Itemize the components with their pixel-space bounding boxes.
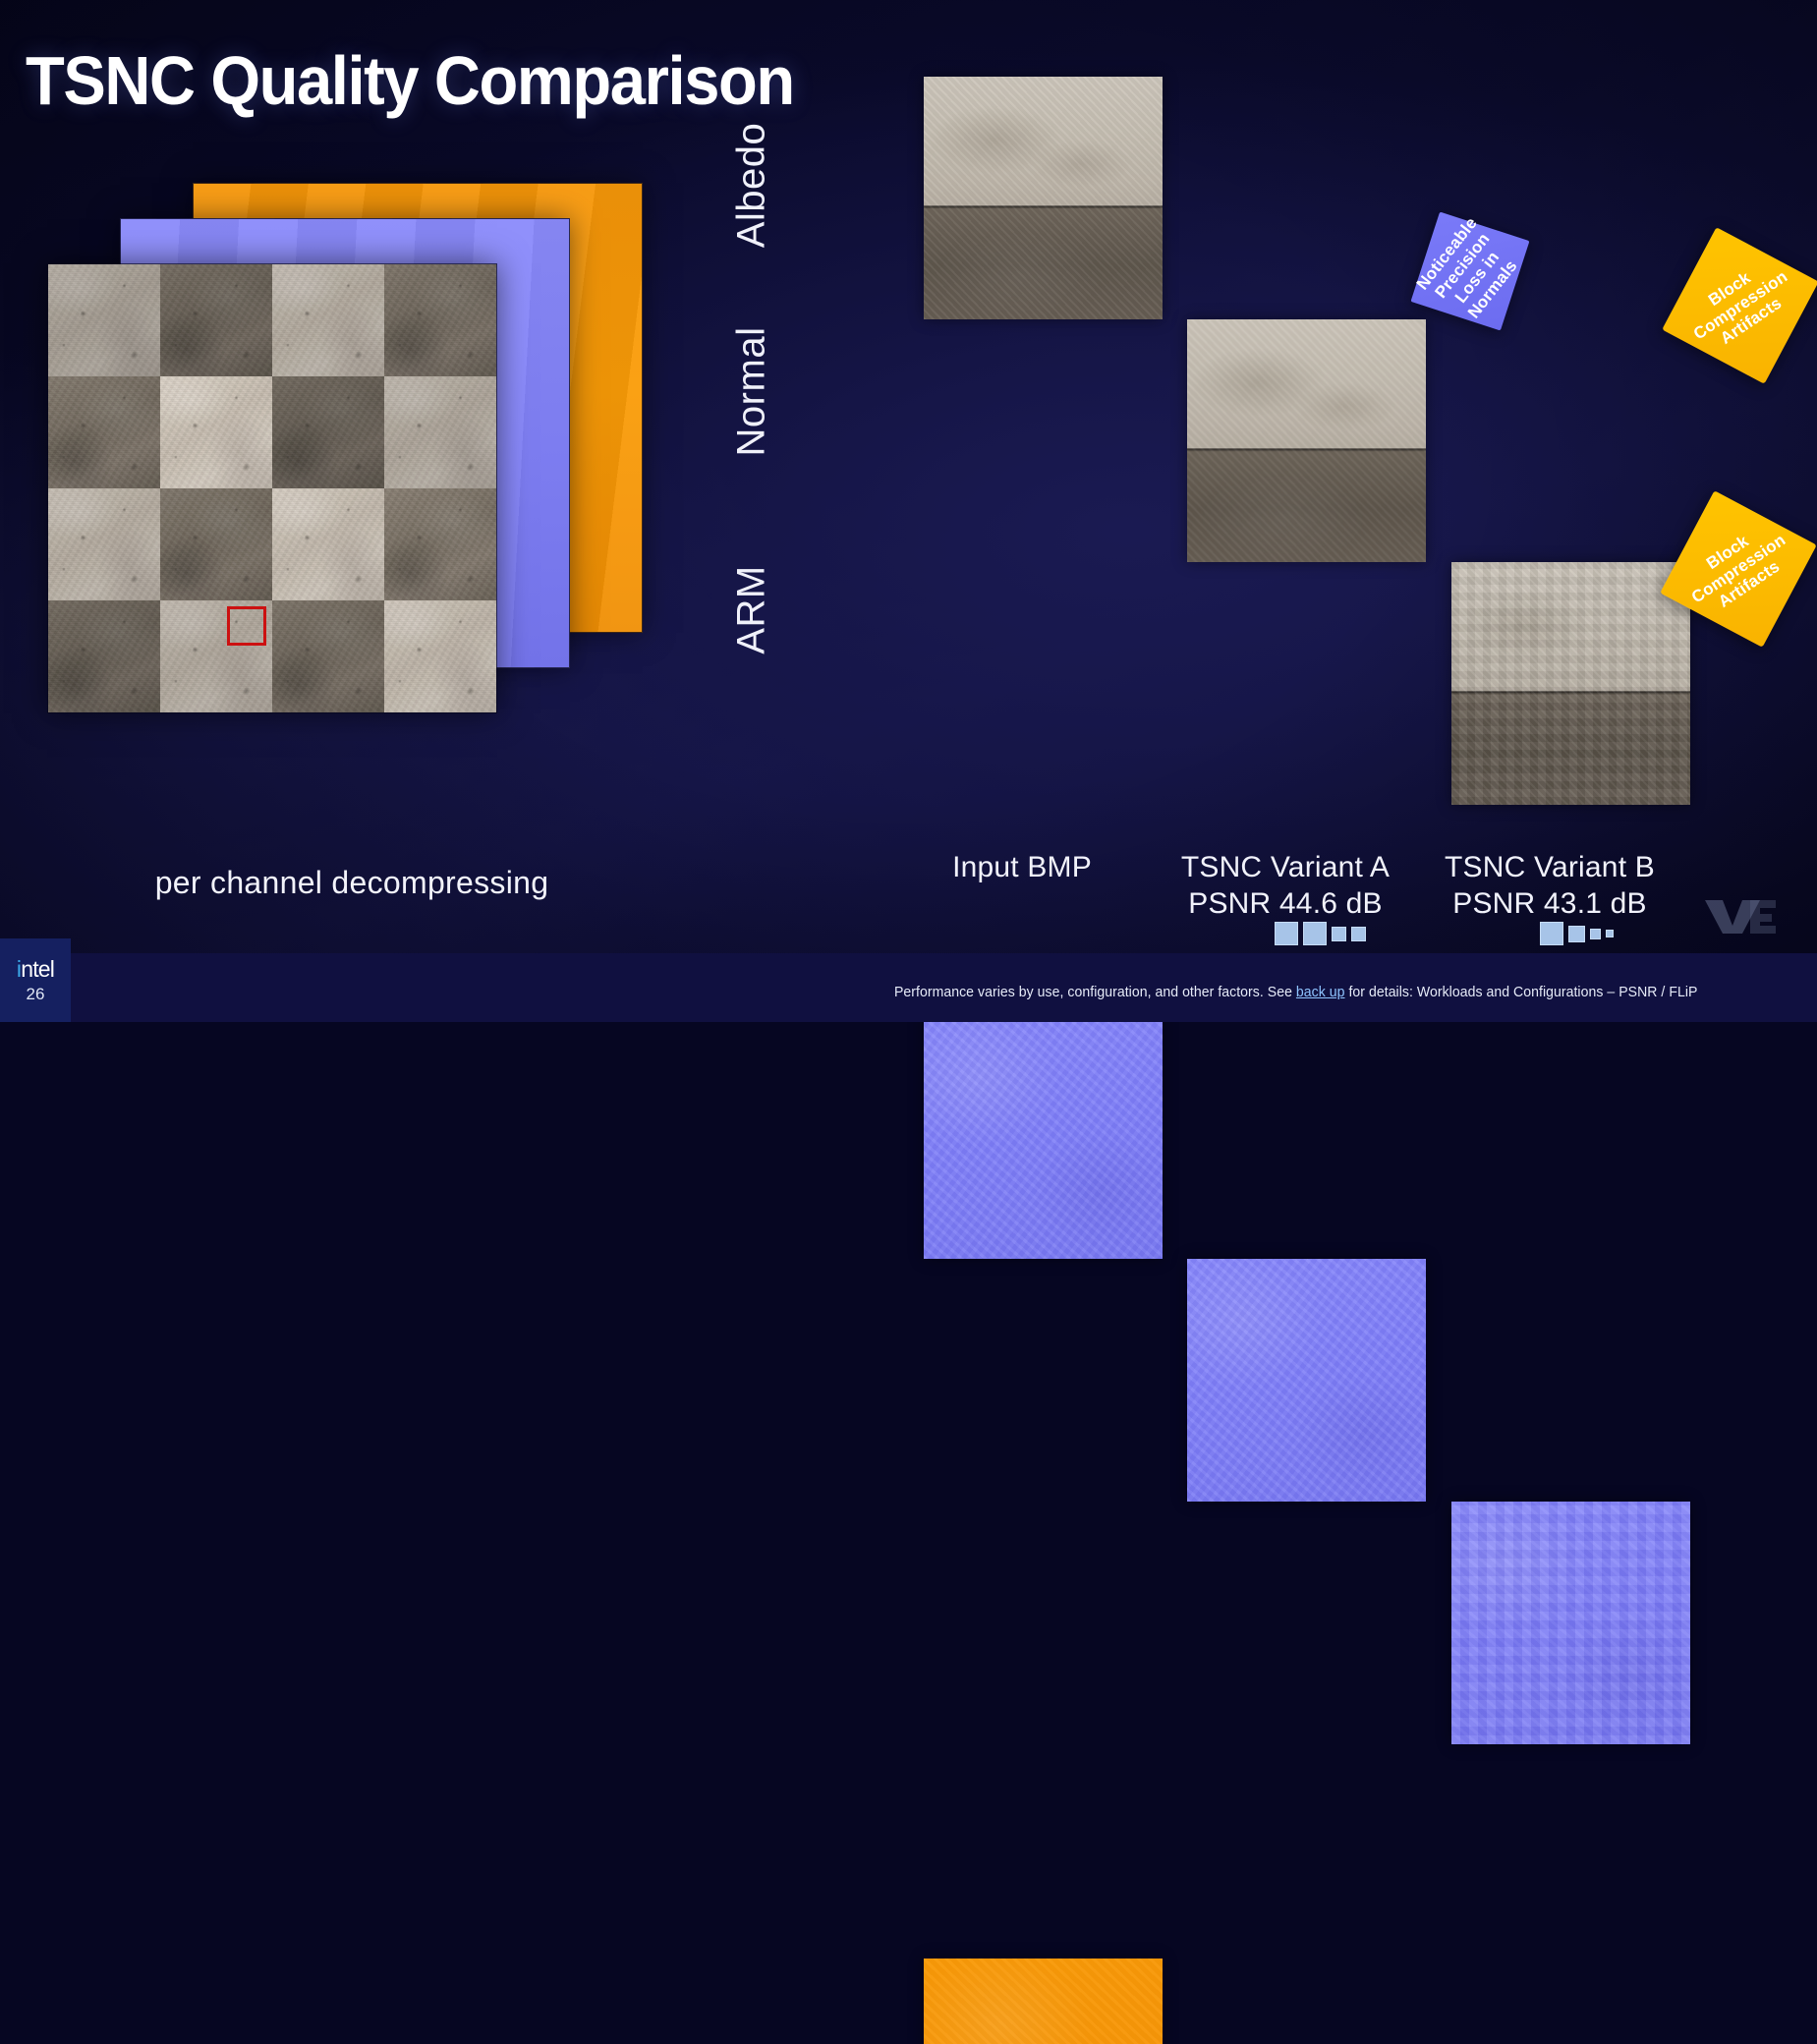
cell-normal-variant-b[interactable] — [1451, 1502, 1690, 1744]
texture-tile — [48, 376, 160, 488]
texture-tile — [48, 600, 160, 712]
texture-tile — [160, 264, 272, 376]
per-channel-stack — [47, 183, 656, 723]
cell-albedo-variant-a[interactable] — [1187, 319, 1426, 562]
watermark-logo — [1703, 896, 1778, 936]
column-caption-variant-a: TSNC Variant A PSNR 44.6 dB — [1138, 850, 1433, 922]
cell-arm-input[interactable] — [924, 1959, 1163, 2044]
stack-caption: per channel decompressing — [47, 865, 656, 901]
disclaimer-text-before: Performance varies by use, configuration… — [894, 985, 1296, 1000]
column-label-variant-a: TSNC Variant A — [1138, 850, 1433, 886]
texture-tile — [48, 264, 160, 376]
block-size-swatch — [1332, 927, 1346, 941]
texture-tile — [160, 376, 272, 488]
texture-tile — [48, 488, 160, 600]
block-indicator-variant-a — [1275, 922, 1366, 945]
back-up-link[interactable]: back up — [1296, 985, 1345, 1000]
block-size-swatch — [1590, 929, 1601, 939]
column-psnr-variant-a: PSNR 44.6 dB — [1138, 886, 1433, 923]
page-number: 26 — [27, 985, 45, 1004]
texture-tile — [272, 600, 384, 712]
texture-tile — [384, 376, 496, 488]
column-label-variant-b: TSNC Variant B — [1402, 850, 1697, 886]
texture-tile — [384, 264, 496, 376]
column-psnr-variant-b: PSNR 43.1 dB — [1402, 886, 1697, 923]
texture-tile — [272, 264, 384, 376]
cell-albedo-variant-b[interactable] — [1451, 562, 1690, 805]
block-size-swatch — [1606, 930, 1614, 937]
row-label-arm: ARM — [730, 497, 774, 723]
stack-layer-albedo — [47, 263, 497, 713]
block-size-swatch — [1303, 922, 1327, 945]
disclaimer-text-after: for details: Workloads and Configuration… — [1345, 985, 1698, 1000]
comparison-grid: Albedo Normal ARM — [924, 77, 1163, 2044]
column-caption-input: Input BMP — [875, 850, 1169, 886]
intel-logo-text: ntel — [21, 956, 54, 982]
cell-normal-variant-a[interactable] — [1187, 1259, 1426, 1502]
page-title: TSNC Quality Comparison — [26, 41, 794, 120]
intel-logo: intel — [17, 956, 54, 983]
texture-tile — [384, 600, 496, 712]
texture-tile — [272, 488, 384, 600]
block-size-swatch — [1275, 922, 1298, 945]
column-caption-variant-b: TSNC Variant B PSNR 43.1 dB — [1402, 850, 1697, 922]
texture-tile — [160, 488, 272, 600]
row-label-albedo: Albedo — [730, 73, 774, 299]
cell-albedo-input[interactable] — [924, 77, 1163, 319]
footer-disclaimer: Performance varies by use, configuration… — [894, 985, 1697, 1000]
intel-brand-block: intel 26 — [0, 938, 71, 1022]
column-label-input: Input BMP — [875, 850, 1169, 886]
checkerboard-texture — [48, 264, 496, 712]
texture-tile — [272, 376, 384, 488]
cell-normal-input[interactable] — [924, 1016, 1163, 1259]
texture-tile — [384, 488, 496, 600]
block-size-swatch — [1351, 927, 1366, 941]
block-indicator-variant-b — [1540, 922, 1614, 945]
block-size-swatch — [1540, 922, 1563, 945]
block-size-swatch — [1568, 926, 1585, 942]
region-of-interest-box — [227, 606, 266, 646]
row-label-normal: Normal — [730, 279, 774, 505]
